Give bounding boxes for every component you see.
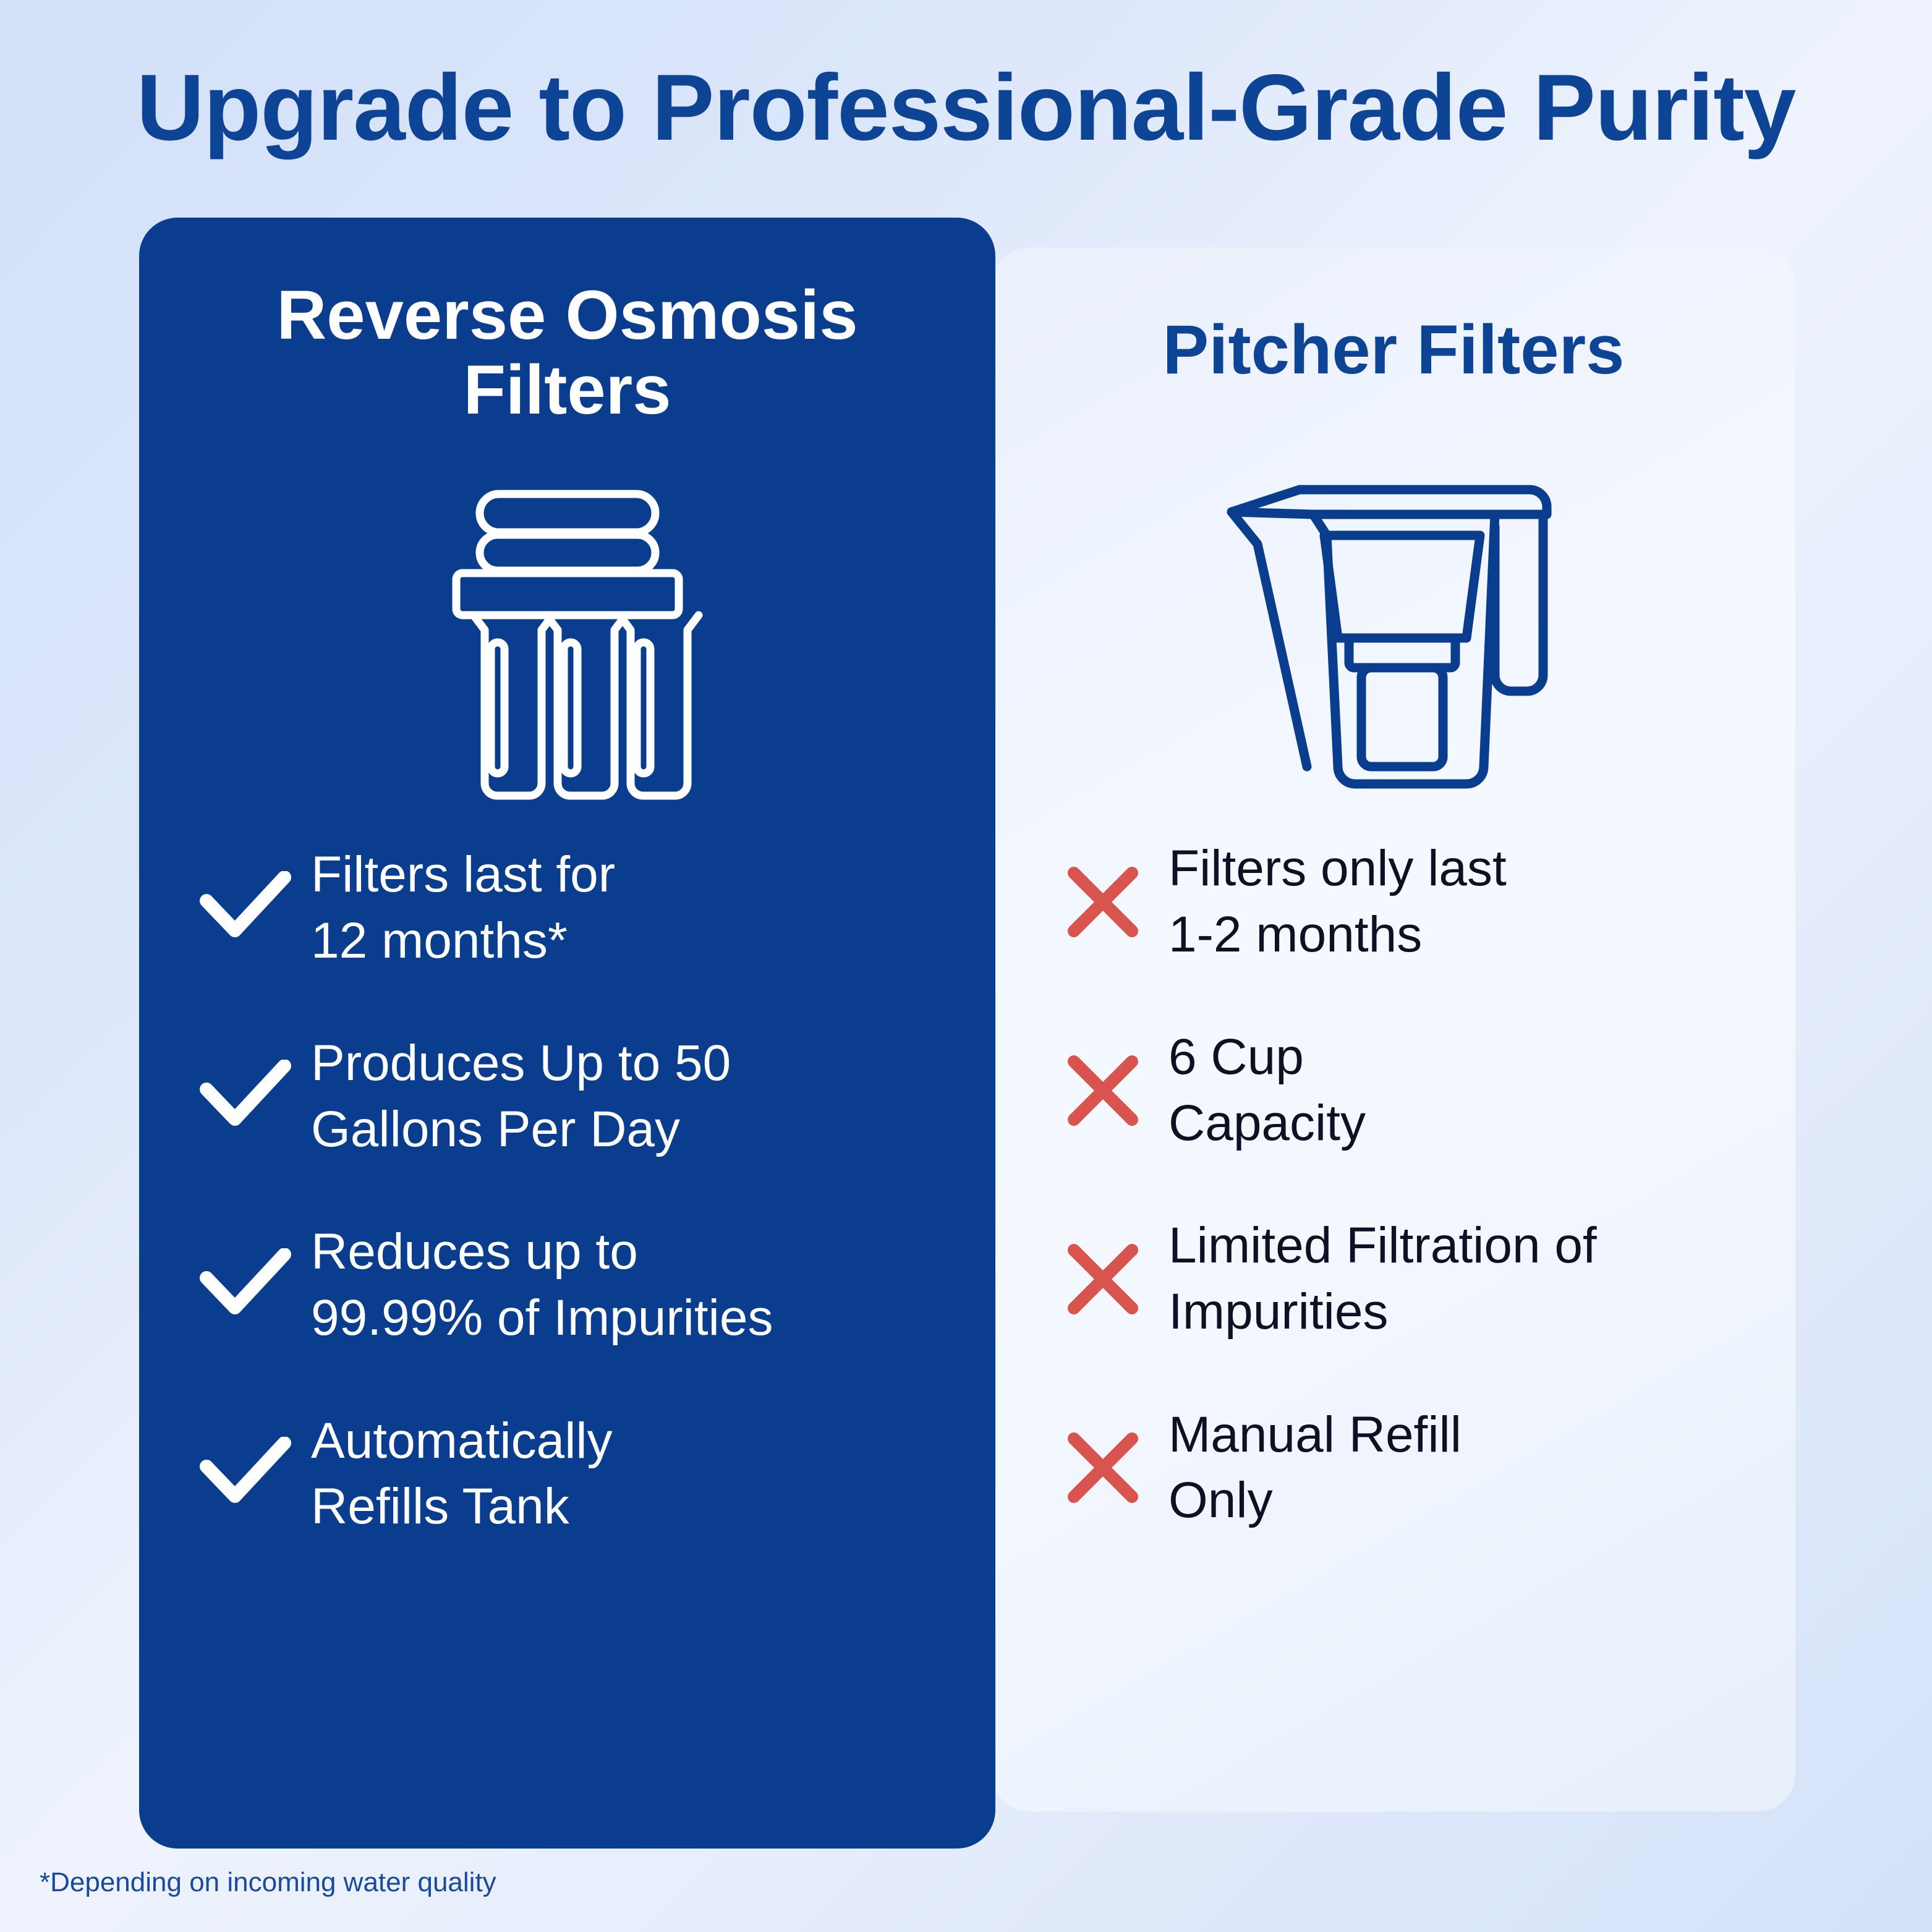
feature-line-1: Manual Refill <box>1168 1402 1462 1468</box>
pitcher-icon-container <box>992 457 1795 816</box>
feature-row: 6 Cup Capacity <box>1053 1024 1771 1156</box>
feature-line-2: 12 months* <box>311 908 615 974</box>
check-icon <box>196 1424 295 1523</box>
reverse-osmosis-heading: Reverse Osmosis Filters <box>139 278 995 428</box>
feature-row: Limited Filtration of Impurities <box>1053 1213 1771 1345</box>
feature-line-1: Automatically <box>311 1408 613 1475</box>
feature-line-2: Gallons Per Day <box>311 1097 731 1163</box>
feature-line-1: Filters only last <box>1168 836 1507 902</box>
heading-line-1: Pitcher Filters <box>1163 311 1625 388</box>
feature-text: Filters only last 1-2 months <box>1168 836 1507 968</box>
infographic-page: Upgrade to Professional-Grade Purity Rev… <box>0 0 1932 1932</box>
feature-text: 6 Cup Capacity <box>1168 1024 1366 1156</box>
feature-line-2: Capacity <box>1168 1091 1366 1157</box>
feature-text: Manual Refill Only <box>1168 1402 1462 1534</box>
feature-row: Automatically Refills Tank <box>196 1408 958 1540</box>
heading-line-2: Filters <box>463 351 671 428</box>
feature-row: Filters only last 1-2 months <box>1053 836 1771 968</box>
page-title: Upgrade to Professional-Grade Purity <box>0 59 1932 158</box>
pitcher-heading: Pitcher Filters <box>992 313 1795 388</box>
feature-line-2: 99.99% of Impurities <box>311 1285 773 1351</box>
feature-text: Produces Up to 50 Gallons Per Day <box>311 1031 731 1162</box>
feature-text: Automatically Refills Tank <box>311 1408 613 1540</box>
cross-icon <box>1053 853 1152 951</box>
feature-line-2: Impurities <box>1168 1279 1597 1345</box>
feature-line-1: Filters last for <box>311 842 615 908</box>
feature-text: Limited Filtration of Impurities <box>1168 1213 1597 1345</box>
check-icon <box>196 1047 295 1146</box>
feature-row: Produces Up to 50 Gallons Per Day <box>196 1031 958 1162</box>
feature-line-2: Refills Tank <box>311 1474 613 1540</box>
reverse-osmosis-feature-list: Filters last for 12 months* Produces Up … <box>139 842 995 1540</box>
check-icon <box>196 859 295 958</box>
feature-row: Reduces up to 99.99% of Impurities <box>196 1219 958 1351</box>
feature-text: Filters last for 12 months* <box>311 842 615 974</box>
cross-icon <box>1053 1418 1152 1517</box>
reverse-osmosis-icon-container <box>139 467 995 820</box>
heading-line-1: Reverse Osmosis <box>276 276 857 354</box>
feature-line-1: Limited Filtration of <box>1168 1213 1597 1279</box>
feature-line-2: Only <box>1168 1468 1462 1534</box>
cross-icon <box>1053 1041 1152 1140</box>
feature-row: Manual Refill Only <box>1053 1402 1771 1534</box>
reverse-osmosis-card: Reverse Osmosis Filters <box>139 218 995 1849</box>
feature-line-1: 6 Cup <box>1168 1024 1366 1091</box>
check-icon <box>196 1236 295 1335</box>
footnote: *Depending on incoming water quality <box>40 1867 496 1898</box>
feature-row: Filters last for 12 months* <box>196 842 958 974</box>
pitcher-feature-list: Filters only last 1-2 months 6 Cup Capac… <box>992 836 1795 1534</box>
feature-line-1: Reduces up to <box>311 1219 773 1285</box>
feature-line-2: 1-2 months <box>1168 902 1507 968</box>
feature-text: Reduces up to 99.99% of Impurities <box>311 1219 773 1351</box>
feature-line-1: Produces Up to 50 <box>311 1031 731 1097</box>
pitcher-card: Pitcher Filters <box>992 247 1795 1811</box>
cross-icon <box>1053 1230 1152 1329</box>
water-pitcher-icon <box>1220 476 1567 798</box>
reverse-osmosis-filter-icon <box>425 483 710 804</box>
